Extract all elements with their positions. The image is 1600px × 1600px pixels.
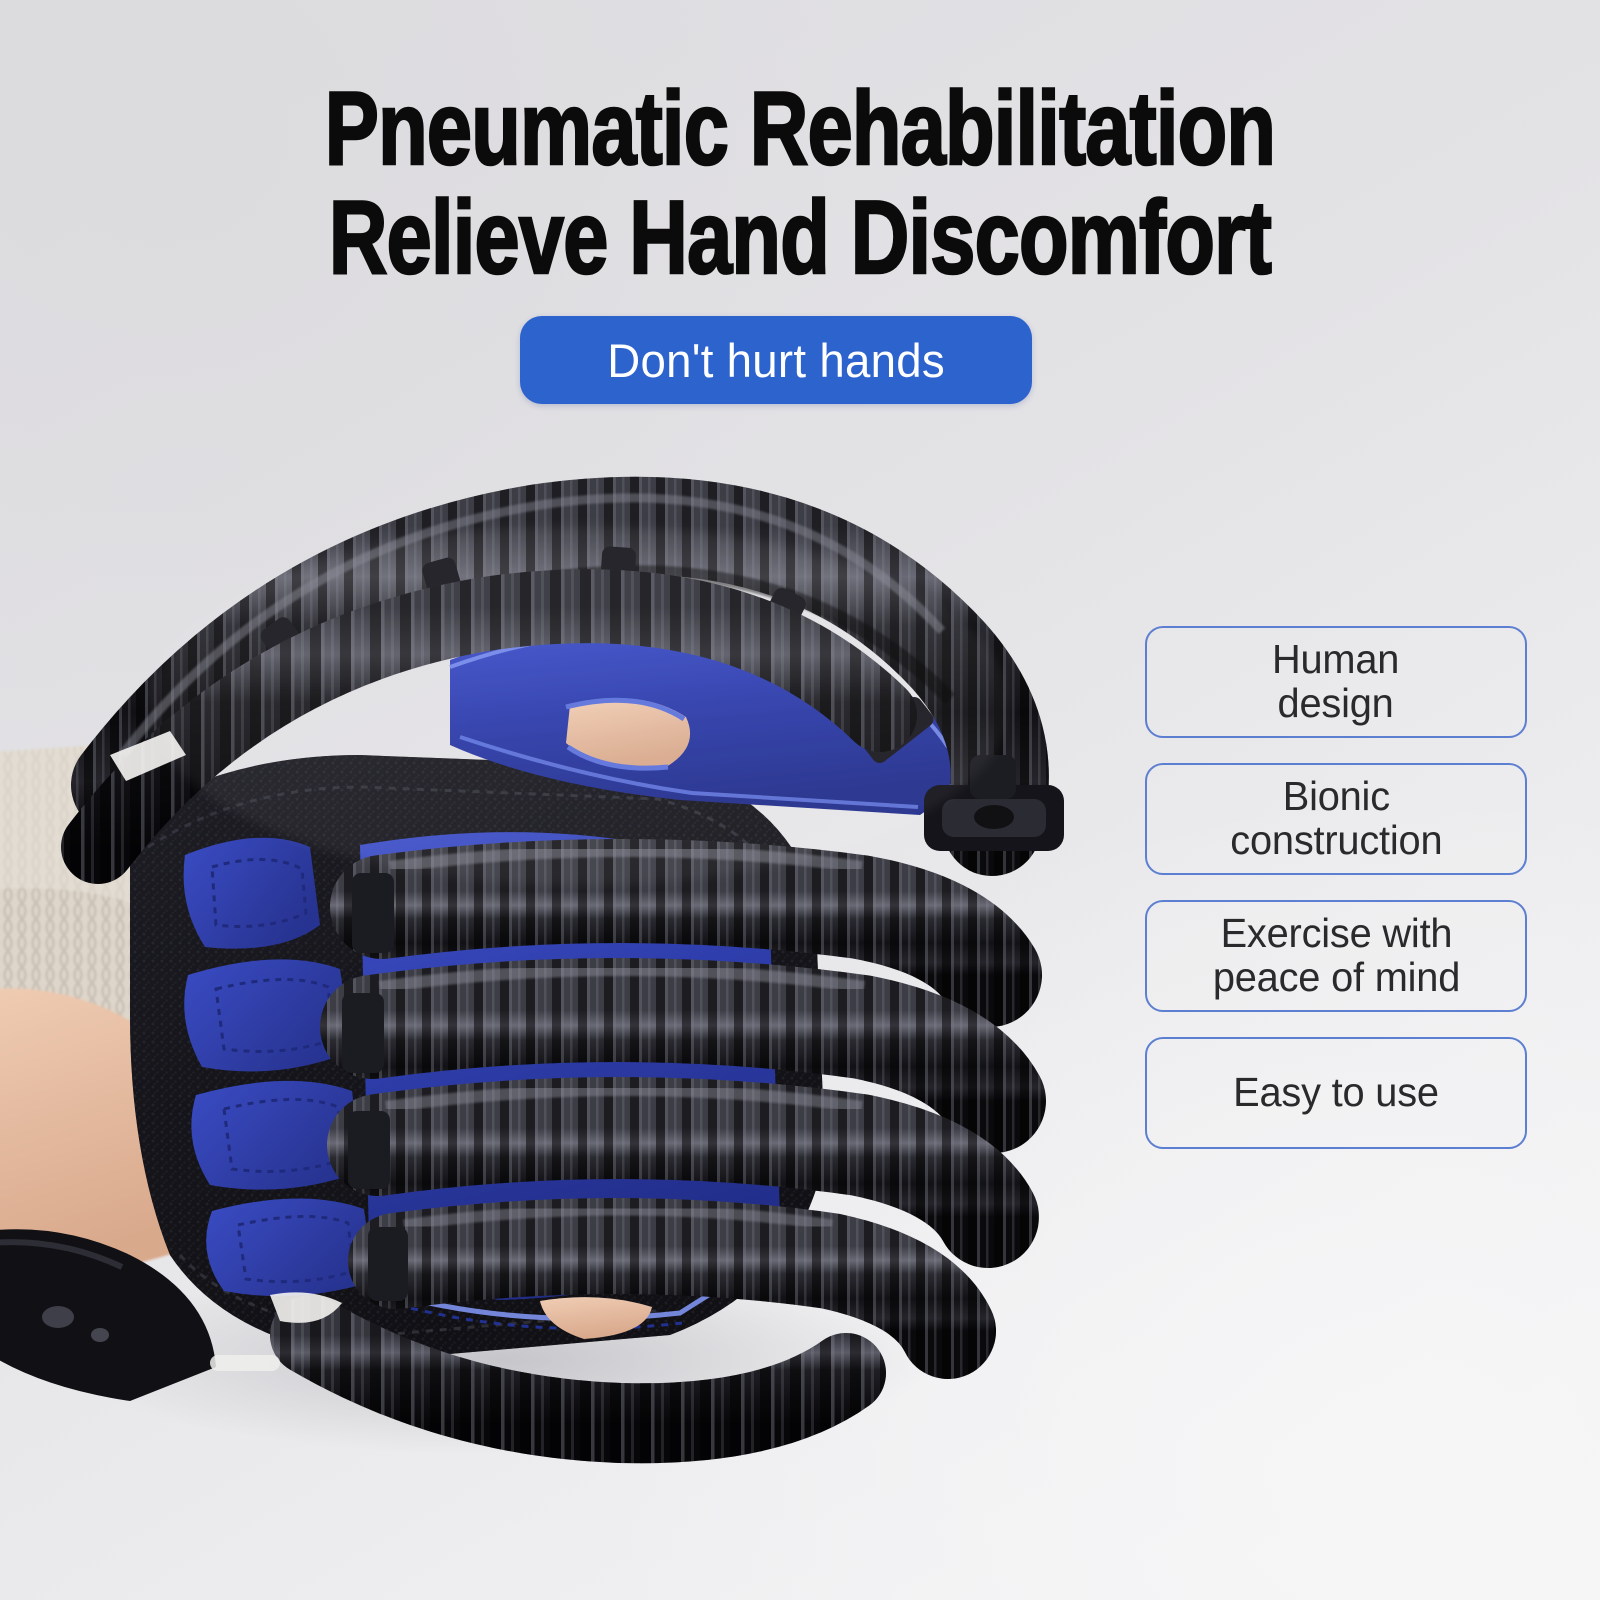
headline: Pneumatic Rehabilitation Relieve Hand Di… (0, 78, 1600, 290)
feature-label: Human design (1272, 638, 1399, 726)
feature-label: Easy to use (1233, 1071, 1439, 1115)
badge-dont-hurt-hands[interactable]: Don't hurt hands (520, 316, 1032, 404)
feature-list: Human design Bionic construction Exercis… (1145, 626, 1527, 1149)
headline-line-2: Relieve Hand Discomfort (176, 187, 1424, 290)
feature-label: Bionic construction (1230, 775, 1442, 863)
feature-box-bionic-construction[interactable]: Bionic construction (1145, 763, 1527, 875)
feature-box-exercise-peace-of-mind[interactable]: Exercise with peace of mind (1145, 900, 1527, 1012)
finger-actuators (342, 851, 994, 1331)
feature-label: Exercise with peace of mind (1212, 912, 1459, 1000)
promo-banner: Pneumatic Rehabilitation Relieve Hand Di… (0, 0, 1600, 1600)
product-image-pneumatic-rehabilitation-glove (0, 455, 1110, 1465)
headline-line-1: Pneumatic Rehabilitation (176, 78, 1424, 181)
feature-box-easy-to-use[interactable]: Easy to use (1145, 1037, 1527, 1149)
feature-box-human-design[interactable]: Human design (1145, 626, 1527, 738)
badge-label: Don't hurt hands (607, 333, 945, 388)
